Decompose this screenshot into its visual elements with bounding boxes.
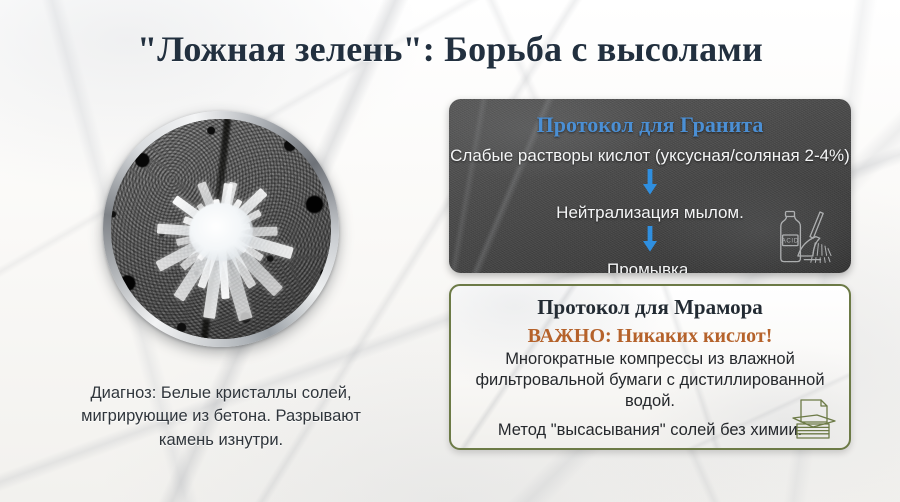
arrow-down-icon [638, 226, 662, 252]
photo-caption: Диагноз: Белые кристаллы солей, мигрирую… [60, 382, 382, 452]
efflorescence-photo [103, 111, 339, 347]
marble-warning: ВАЖНО: Никаких кислот! [451, 325, 849, 348]
slide-root: "Ложная зелень": Борьба с высолами Диагн… [0, 0, 900, 502]
photo-image-area [111, 119, 331, 339]
marble-panel-title: Протокол для Мрамора [451, 295, 849, 320]
granite-panel-title: Протокол для Гранита [449, 112, 851, 138]
acid-bottle-and-brush-icon: ACID [775, 209, 837, 265]
marble-protocol-panel: Протокол для Мрамора ВАЖНО: Никаких кисл… [449, 284, 851, 450]
paper-stack-icon [785, 396, 841, 444]
granite-step-1: Слабые растворы кислот (уксусная/соляная… [449, 146, 851, 166]
arrow-down-icon [638, 169, 662, 195]
page-title: "Ложная зелень": Борьба с высолами [0, 28, 900, 70]
granite-protocol-panel: Протокол для Гранита Слабые растворы кис… [449, 99, 851, 273]
acid-label: ACID [782, 238, 799, 245]
